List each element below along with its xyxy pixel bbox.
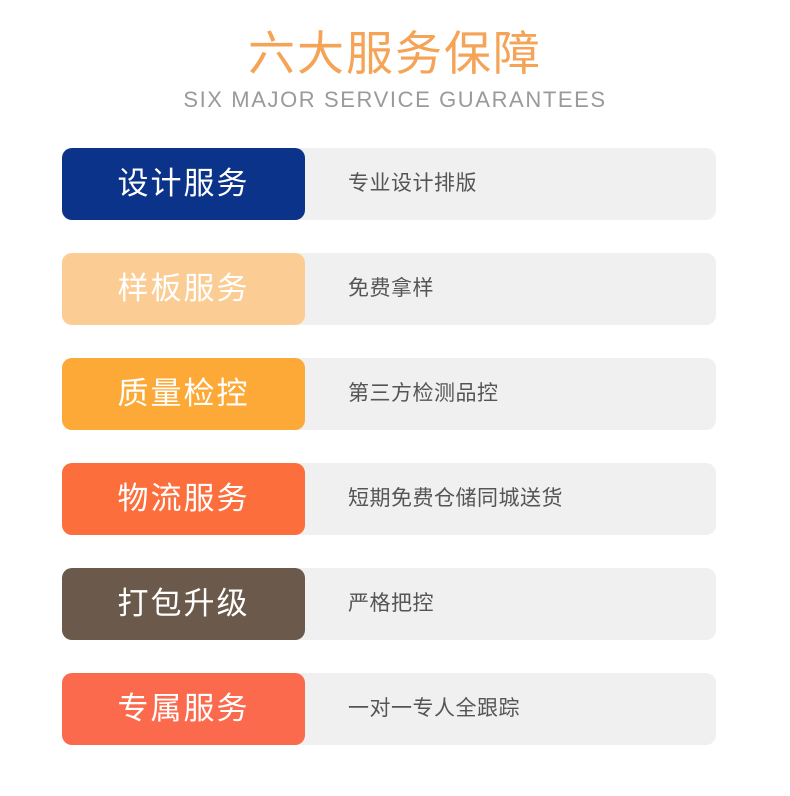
service-badge-label: 样板服务 <box>118 272 250 306</box>
service-badge-label: 质量检控 <box>118 377 250 411</box>
service-description: 短期免费仓储同城送货 <box>348 463 563 535</box>
service-badge-label: 设计服务 <box>118 167 250 201</box>
service-row: 专属服务 一对一专人全跟踪 <box>62 673 716 745</box>
service-list: 设计服务 专业设计排版 样板服务 免费拿样 质量检控 第三方检测品控 物流服务 … <box>62 148 716 778</box>
page-title: 六大服务保障 <box>0 26 790 82</box>
service-badge-design: 设计服务 <box>62 148 305 220</box>
service-badge-logistics: 物流服务 <box>62 463 305 535</box>
service-badge-dedicated: 专属服务 <box>62 673 305 745</box>
page-header: 六大服务保障 SIX MAJOR SERVICE GUARANTEES <box>0 26 790 113</box>
service-badge-label: 专属服务 <box>118 692 250 726</box>
service-row: 样板服务 免费拿样 <box>62 253 716 325</box>
service-description: 一对一专人全跟踪 <box>348 673 520 745</box>
service-guarantees-page: 六大服务保障 SIX MAJOR SERVICE GUARANTEES 设计服务… <box>0 0 790 796</box>
service-description: 免费拿样 <box>348 253 434 325</box>
service-description: 严格把控 <box>348 568 434 640</box>
service-badge-label: 打包升级 <box>118 587 250 621</box>
service-badge-quality: 质量检控 <box>62 358 305 430</box>
service-row: 物流服务 短期免费仓储同城送货 <box>62 463 716 535</box>
service-description: 专业设计排版 <box>348 148 477 220</box>
service-row: 打包升级 严格把控 <box>62 568 716 640</box>
service-badge-packaging: 打包升级 <box>62 568 305 640</box>
service-badge-sample: 样板服务 <box>62 253 305 325</box>
service-description: 第三方检测品控 <box>348 358 499 430</box>
service-row: 设计服务 专业设计排版 <box>62 148 716 220</box>
service-badge-label: 物流服务 <box>118 482 250 516</box>
service-row: 质量检控 第三方检测品控 <box>62 358 716 430</box>
page-subtitle: SIX MAJOR SERVICE GUARANTEES <box>0 87 790 113</box>
